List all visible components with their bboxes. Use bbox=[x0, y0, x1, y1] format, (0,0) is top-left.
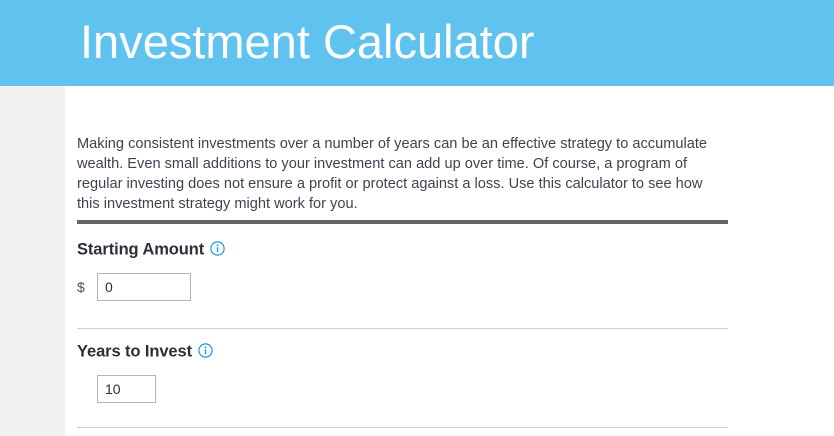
info-circle-icon[interactable] bbox=[198, 343, 213, 358]
starting-amount-input[interactable] bbox=[97, 273, 191, 301]
field-label-years-to-invest: Years to Invest bbox=[77, 341, 213, 362]
intro-paragraph: Making consistent investments over a num… bbox=[77, 134, 717, 215]
section-divider-thin-upper bbox=[77, 328, 728, 329]
main-content: Making consistent investments over a num… bbox=[65, 86, 834, 436]
investment-calculator-page: Investment Calculator Making consistent … bbox=[0, 0, 834, 436]
section-divider-thick bbox=[77, 220, 728, 224]
years-to-invest-input-row bbox=[77, 375, 213, 403]
page-header: Investment Calculator bbox=[0, 0, 834, 86]
field-label-starting-amount: Starting Amount bbox=[77, 239, 225, 260]
page-title: Investment Calculator bbox=[80, 8, 535, 76]
field-group-years-to-invest: Years to Invest bbox=[77, 341, 213, 403]
left-gutter-rail bbox=[0, 86, 65, 436]
starting-amount-input-row: $ bbox=[77, 273, 225, 301]
field-group-starting-amount: Starting Amount $ bbox=[77, 239, 225, 301]
section-divider-thin-lower bbox=[77, 427, 728, 428]
years-to-invest-input[interactable] bbox=[97, 375, 156, 403]
starting-amount-label-text: Starting Amount bbox=[77, 241, 204, 259]
currency-prefix-symbol: $ bbox=[77, 273, 91, 301]
years-to-invest-label-text: Years to Invest bbox=[77, 343, 192, 361]
info-circle-icon[interactable] bbox=[210, 241, 225, 256]
